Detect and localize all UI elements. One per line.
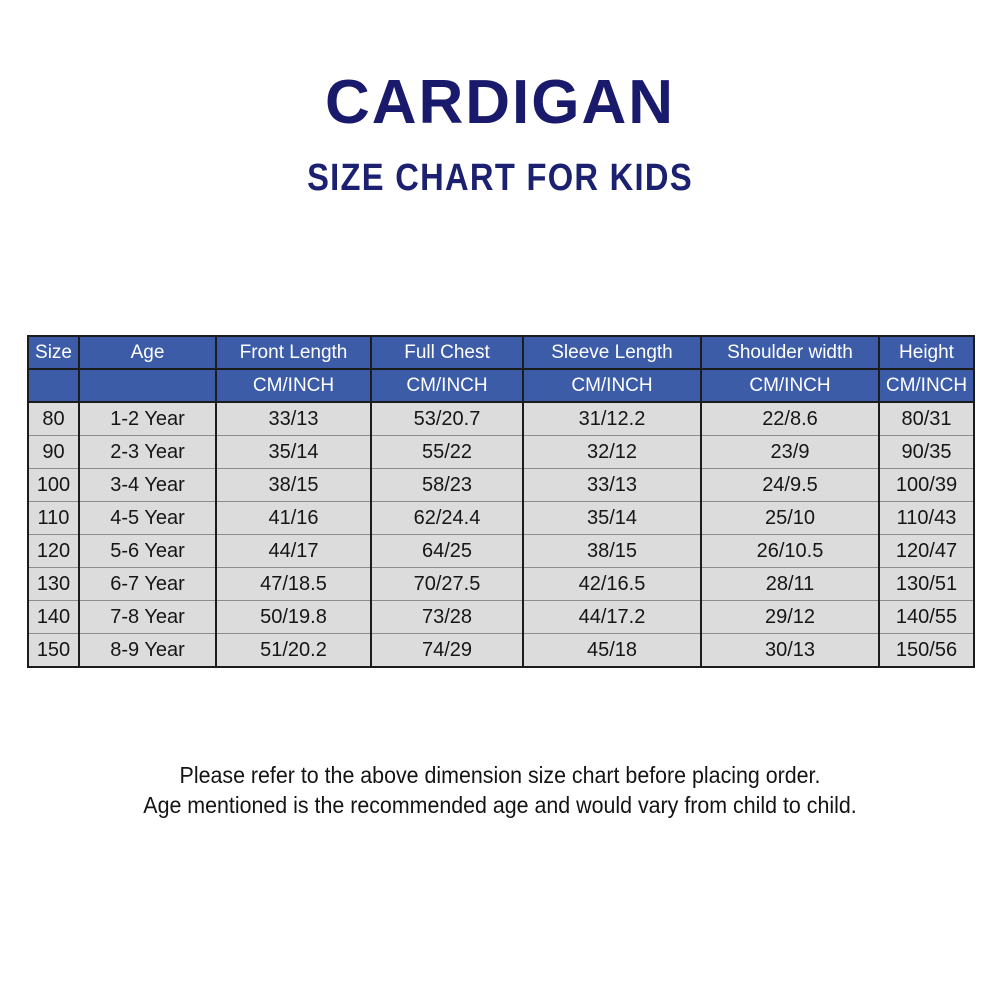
table-row: 140 7-8 Year 50/19.8 73/28 44/17.2 29/12… [28, 601, 974, 634]
cell-full-chest: 55/22 [371, 436, 523, 469]
footer-note-line-1: Please refer to the above dimension size… [35, 760, 965, 790]
footer-note: Please refer to the above dimension size… [0, 760, 1000, 820]
table-row: 100 3-4 Year 38/15 58/23 33/13 24/9.5 10… [28, 469, 974, 502]
cell-size: 120 [28, 535, 79, 568]
cell-sleeve-length: 38/15 [523, 535, 701, 568]
cell-size: 80 [28, 402, 79, 436]
column-header-sleeve-length: Sleeve Length [523, 336, 701, 369]
cell-shoulder-width: 25/10 [701, 502, 879, 535]
cell-sleeve-length: 35/14 [523, 502, 701, 535]
cell-shoulder-width: 29/12 [701, 601, 879, 634]
cell-height: 130/51 [879, 568, 974, 601]
cell-height: 80/31 [879, 402, 974, 436]
table-row: 120 5-6 Year 44/17 64/25 38/15 26/10.5 1… [28, 535, 974, 568]
cell-full-chest: 53/20.7 [371, 402, 523, 436]
cell-full-chest: 64/25 [371, 535, 523, 568]
cell-shoulder-width: 28/11 [701, 568, 879, 601]
column-header-shoulder-width: Shoulder width [701, 336, 879, 369]
cell-age: 7-8 Year [79, 601, 216, 634]
column-unit-size [28, 369, 79, 402]
cell-front-length: 38/15 [216, 469, 371, 502]
cell-full-chest: 62/24.4 [371, 502, 523, 535]
table-row: 130 6-7 Year 47/18.5 70/27.5 42/16.5 28/… [28, 568, 974, 601]
cell-front-length: 47/18.5 [216, 568, 371, 601]
cell-sleeve-length: 31/12.2 [523, 402, 701, 436]
table-row: 90 2-3 Year 35/14 55/22 32/12 23/9 90/35 [28, 436, 974, 469]
cell-size: 90 [28, 436, 79, 469]
cell-front-length: 35/14 [216, 436, 371, 469]
cell-full-chest: 70/27.5 [371, 568, 523, 601]
table-header: Size Age Front Length Full Chest Sleeve … [28, 336, 974, 402]
column-header-full-chest: Full Chest [371, 336, 523, 369]
column-header-front-length: Front Length [216, 336, 371, 369]
size-chart-table-wrap: Size Age Front Length Full Chest Sleeve … [27, 335, 973, 668]
cell-height: 140/55 [879, 601, 974, 634]
cell-size: 100 [28, 469, 79, 502]
title-block: CARDIGAN SIZE CHART FOR KIDS [0, 70, 1000, 200]
cell-size: 140 [28, 601, 79, 634]
size-chart-table: Size Age Front Length Full Chest Sleeve … [27, 335, 975, 668]
cell-age: 1-2 Year [79, 402, 216, 436]
column-unit-full-chest: CM/INCH [371, 369, 523, 402]
cell-front-length: 51/20.2 [216, 634, 371, 668]
cell-age: 8-9 Year [79, 634, 216, 668]
cell-shoulder-width: 30/13 [701, 634, 879, 668]
cell-age: 4-5 Year [79, 502, 216, 535]
cell-height: 100/39 [879, 469, 974, 502]
column-header-size: Size [28, 336, 79, 369]
column-unit-height: CM/INCH [879, 369, 974, 402]
cell-shoulder-width: 22/8.6 [701, 402, 879, 436]
cell-sleeve-length: 44/17.2 [523, 601, 701, 634]
column-header-height: Height [879, 336, 974, 369]
size-chart-page: CARDIGAN SIZE CHART FOR KIDS Size Age Fr… [0, 0, 1000, 1000]
cell-size: 150 [28, 634, 79, 668]
column-unit-shoulder-width: CM/INCH [701, 369, 879, 402]
cell-shoulder-width: 24/9.5 [701, 469, 879, 502]
table-row: 150 8-9 Year 51/20.2 74/29 45/18 30/13 1… [28, 634, 974, 668]
cell-front-length: 50/19.8 [216, 601, 371, 634]
cell-height: 110/43 [879, 502, 974, 535]
cell-age: 6-7 Year [79, 568, 216, 601]
table-row: 80 1-2 Year 33/13 53/20.7 31/12.2 22/8.6… [28, 402, 974, 436]
column-unit-age [79, 369, 216, 402]
cell-height: 90/35 [879, 436, 974, 469]
cell-size: 110 [28, 502, 79, 535]
cell-full-chest: 73/28 [371, 601, 523, 634]
cell-sleeve-length: 32/12 [523, 436, 701, 469]
cell-front-length: 41/16 [216, 502, 371, 535]
cell-sleeve-length: 45/18 [523, 634, 701, 668]
cell-shoulder-width: 23/9 [701, 436, 879, 469]
table-row: 110 4-5 Year 41/16 62/24.4 35/14 25/10 1… [28, 502, 974, 535]
cell-height: 150/56 [879, 634, 974, 668]
column-unit-front-length: CM/INCH [216, 369, 371, 402]
page-title: CARDIGAN [0, 70, 1000, 135]
cell-shoulder-width: 26/10.5 [701, 535, 879, 568]
footer-note-line-2: Age mentioned is the recommended age and… [35, 790, 965, 820]
cell-full-chest: 58/23 [371, 469, 523, 502]
cell-front-length: 44/17 [216, 535, 371, 568]
column-unit-sleeve-length: CM/INCH [523, 369, 701, 402]
cell-age: 3-4 Year [79, 469, 216, 502]
table-header-row-labels: Size Age Front Length Full Chest Sleeve … [28, 336, 974, 369]
cell-size: 130 [28, 568, 79, 601]
cell-front-length: 33/13 [216, 402, 371, 436]
cell-age: 2-3 Year [79, 436, 216, 469]
table-header-row-units: CM/INCH CM/INCH CM/INCH CM/INCH CM/INCH [28, 369, 974, 402]
cell-sleeve-length: 33/13 [523, 469, 701, 502]
column-header-age: Age [79, 336, 216, 369]
table-body: 80 1-2 Year 33/13 53/20.7 31/12.2 22/8.6… [28, 402, 974, 667]
cell-sleeve-length: 42/16.5 [523, 568, 701, 601]
cell-age: 5-6 Year [79, 535, 216, 568]
cell-height: 120/47 [879, 535, 974, 568]
page-subtitle: SIZE CHART FOR KIDS [70, 157, 930, 200]
cell-full-chest: 74/29 [371, 634, 523, 668]
